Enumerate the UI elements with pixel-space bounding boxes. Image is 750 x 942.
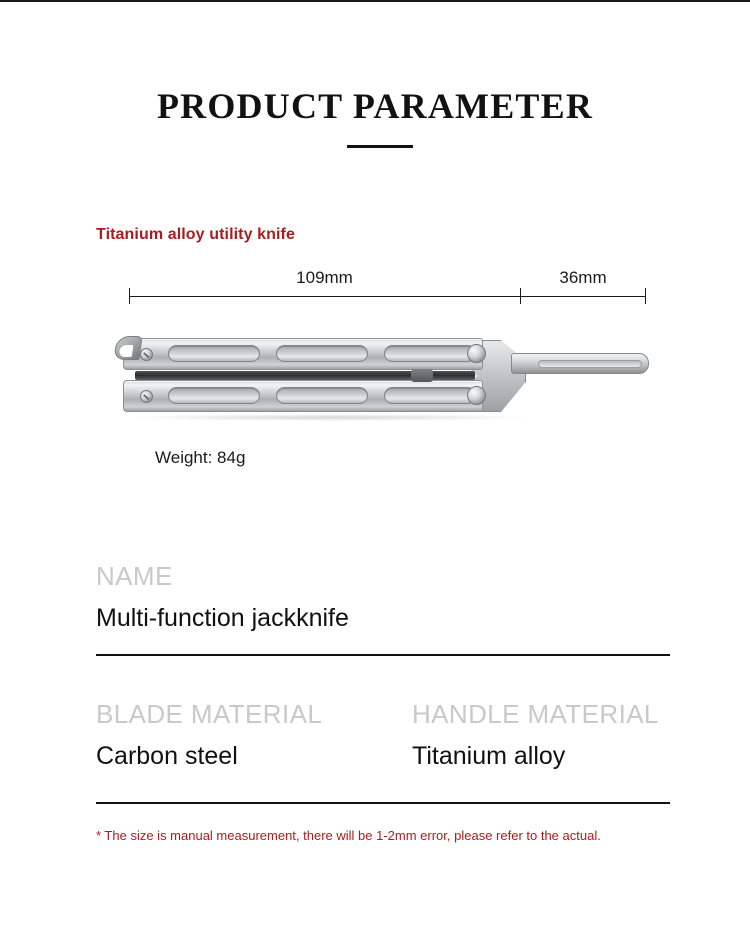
latch-hook-cutout: [119, 345, 134, 357]
screw-slot: [143, 352, 149, 358]
spec-label-blade-material: BLADE MATERIAL: [96, 699, 322, 730]
handle-screw: [140, 390, 153, 403]
ruler-tick-right: [645, 288, 646, 304]
spec-value-name: Multi-function jackknife: [96, 604, 349, 633]
knife-blade: [511, 353, 649, 374]
product-image-knife: [115, 326, 660, 426]
top-edge-rule: [0, 0, 750, 2]
spec-value-blade-material: Carbon steel: [96, 742, 238, 771]
pivot-screw-top: [467, 344, 486, 363]
product-subtitle: Titanium alloy utility knife: [96, 226, 295, 244]
handle-slot: [168, 345, 260, 362]
screw-slot: [143, 394, 149, 400]
handle-slot: [168, 387, 260, 404]
handle-slot: [276, 345, 368, 362]
spec-divider: [96, 802, 670, 804]
weight-label: Weight: 84g: [155, 448, 245, 468]
pivot-screw-bottom: [467, 386, 486, 405]
spec-label-handle-material: HANDLE MATERIAL: [412, 699, 659, 730]
ruler-line: [129, 296, 646, 297]
dimension-ruler: 109mm 36mm: [129, 268, 646, 302]
measurement-footnote: * The size is manual measurement, there …: [96, 828, 601, 843]
ruler-tick-middle: [520, 288, 521, 304]
handle-slot: [384, 345, 476, 362]
handle-slot: [384, 387, 476, 404]
knife-handle-bottom: [123, 380, 483, 412]
product-shadow: [131, 414, 531, 421]
title-underline-rule: [347, 145, 413, 148]
blade-groove: [538, 360, 642, 368]
spec-value-handle-material: Titanium alloy: [412, 742, 565, 771]
spec-divider: [96, 654, 670, 656]
handle-slot: [276, 387, 368, 404]
knife-handle-top: [123, 338, 483, 370]
knife-latch-hook: [113, 336, 142, 360]
dimension-label-length: 109mm: [129, 268, 520, 288]
ruler-tick-left: [129, 288, 130, 304]
handle-pivot-nub: [411, 369, 433, 382]
page-title: PRODUCT PARAMETER: [0, 85, 750, 127]
spec-label-name: NAME: [96, 561, 173, 592]
handle-screw: [140, 348, 153, 361]
dimension-label-tool: 36mm: [520, 268, 646, 288]
